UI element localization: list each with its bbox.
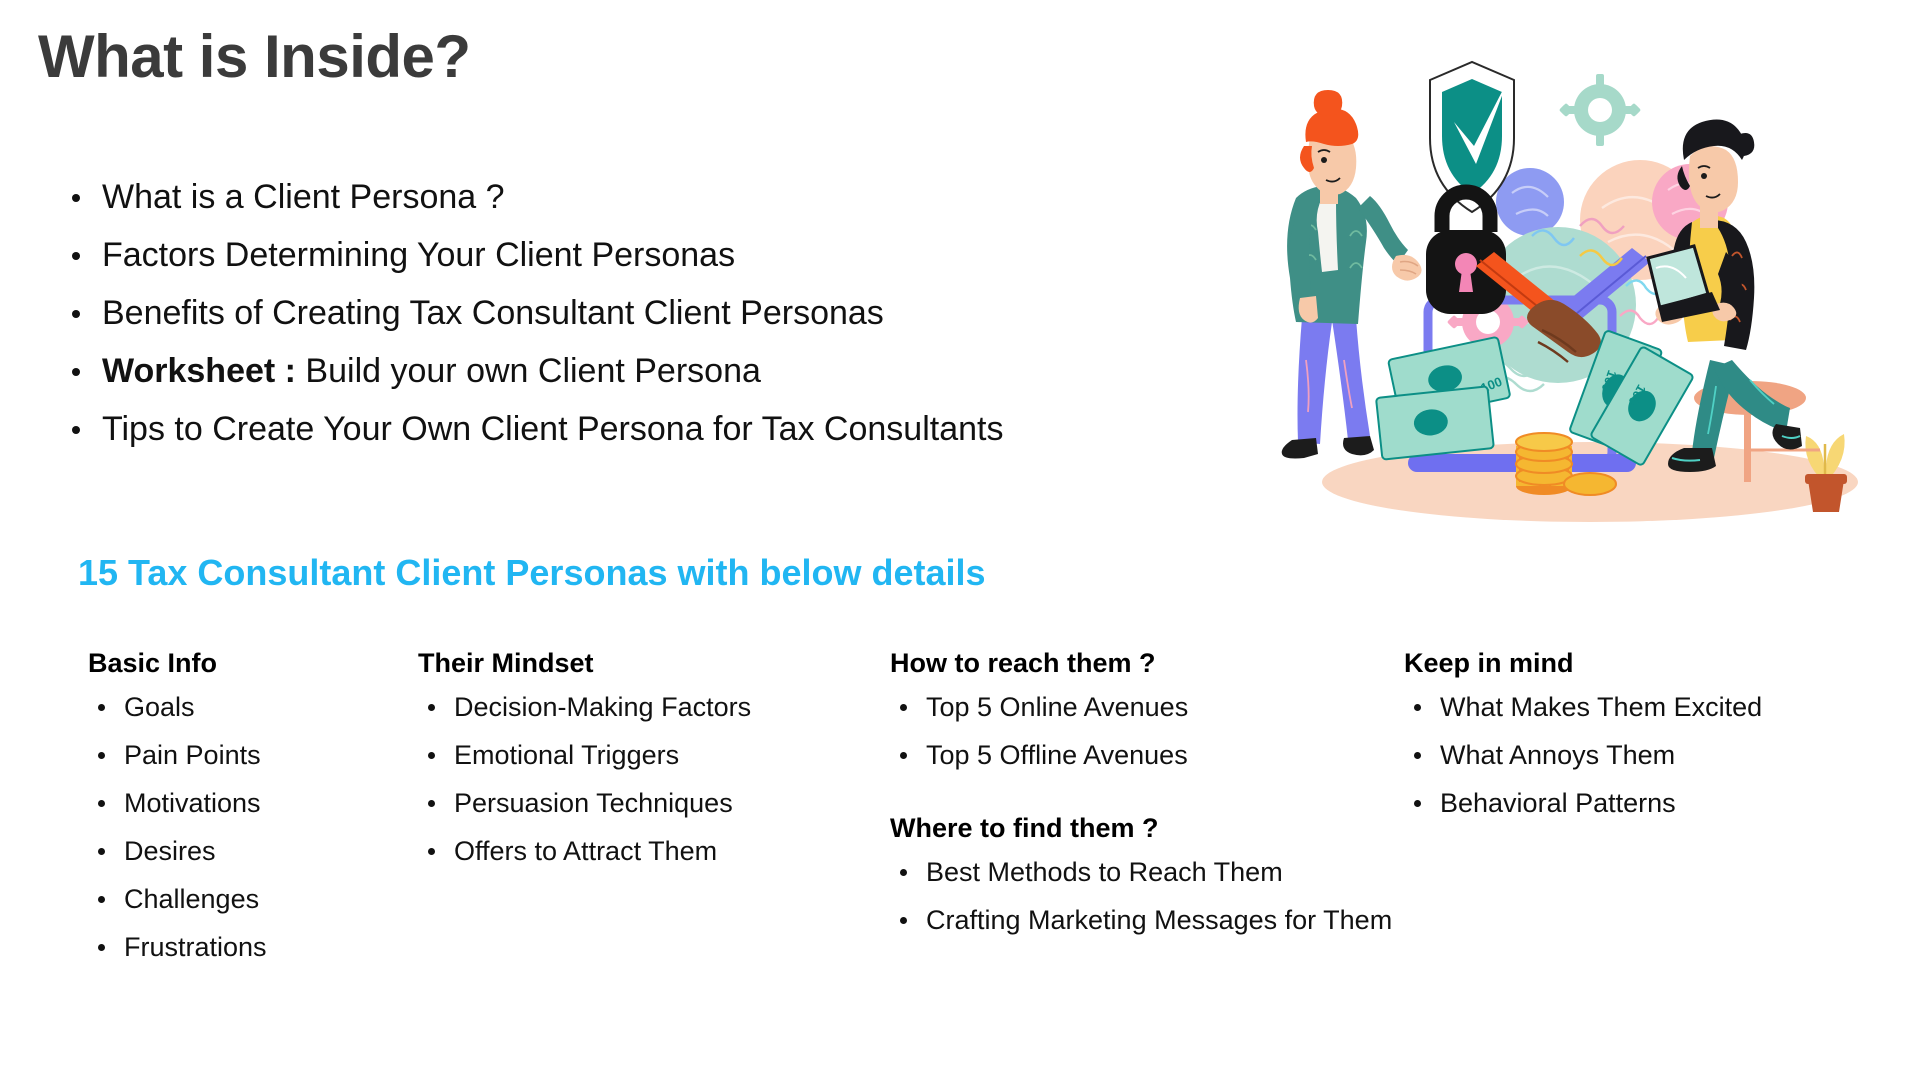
detail-columns: Basic Info Goals Pain Points Motivations…: [0, 648, 1920, 1048]
column-heading: Basic Info: [88, 648, 388, 679]
list-item: Offers to Attract Them: [418, 827, 798, 875]
main-list-text-2: Benefits of Creating Tax Consultant Clie…: [102, 294, 884, 332]
list-item-label: Best Methods to Reach Them: [926, 857, 1283, 887]
column-heading: Their Mindset: [418, 648, 798, 679]
section-heading-personas: 15 Tax Consultant Client Personas with b…: [78, 552, 986, 594]
column-sublist: Best Methods to Reach Them Crafting Mark…: [890, 848, 1530, 944]
list-item: What Makes Them Excited: [1404, 683, 1874, 731]
list-item-label: Emotional Triggers: [454, 740, 679, 770]
list-item-label: Pain Points: [124, 740, 261, 770]
list-item: What is a Client Persona ?: [58, 168, 1238, 226]
business-handshake-security-illustration: 100 100 100: [1280, 30, 1900, 530]
list-item-label: Top 5 Offline Avenues: [926, 740, 1188, 770]
list-item-label: Motivations: [124, 788, 261, 818]
list-item: Desires: [88, 827, 388, 875]
column-keep-in-mind: Keep in mind What Makes Them Excited Wha…: [1404, 648, 1874, 827]
page-title: What is Inside?: [38, 22, 471, 91]
column-basic-info: Basic Info Goals Pain Points Motivations…: [88, 648, 388, 971]
main-list-text-1: Factors Determining Your Client Personas: [102, 236, 735, 274]
list-item-label: Challenges: [124, 884, 259, 914]
list-item-label: Top 5 Online Avenues: [926, 692, 1188, 722]
main-bullet-list: What is a Client Persona ? Factors Deter…: [58, 168, 1238, 458]
list-item: Frustrations: [88, 923, 388, 971]
list-item: Factors Determining Your Client Personas: [58, 226, 1238, 284]
list-item: Persuasion Techniques: [418, 779, 798, 827]
list-item-label: Persuasion Techniques: [454, 788, 733, 818]
list-item: Pain Points: [88, 731, 388, 779]
column-their-mindset: Their Mindset Decision-Making Factors Em…: [418, 648, 798, 875]
list-item: Challenges: [88, 875, 388, 923]
list-item: Crafting Marketing Messages for Them: [890, 896, 1530, 944]
column-list: What Makes Them Excited What Annoys Them…: [1404, 683, 1874, 827]
list-item: Behavioral Patterns: [1404, 779, 1874, 827]
list-item-label: Decision-Making Factors: [454, 692, 751, 722]
slide-canvas: What is Inside? What is a Client Persona…: [0, 0, 1920, 1080]
list-item: Tips to Create Your Own Client Persona f…: [58, 400, 1238, 458]
list-item: Best Methods to Reach Them: [890, 848, 1530, 896]
main-list-bold-3: Worksheet :: [102, 352, 296, 390]
list-item-label: Frustrations: [124, 932, 267, 962]
column-list: Decision-Making Factors Emotional Trigge…: [418, 683, 798, 875]
list-item-label: What Annoys Them: [1440, 740, 1675, 770]
list-item: Benefits of Creating Tax Consultant Clie…: [58, 284, 1238, 342]
list-item: Decision-Making Factors: [418, 683, 798, 731]
list-item-label: What Makes Them Excited: [1440, 692, 1762, 722]
main-list-text-4: Tips to Create Your Own Client Persona f…: [102, 410, 1003, 448]
list-item: Emotional Triggers: [418, 731, 798, 779]
main-list-text-3: Build your own Client Persona: [296, 352, 761, 390]
gear-icon-teal: [1559, 74, 1641, 146]
main-list-text-0: What is a Client Persona ?: [102, 178, 505, 216]
list-item-label: Goals: [124, 692, 195, 722]
subsection-where-to-find: Where to find them ? Best Methods to Rea…: [890, 813, 1530, 944]
list-item-label: Desires: [124, 836, 216, 866]
column-heading: Keep in mind: [1404, 648, 1874, 679]
list-item: Goals: [88, 683, 388, 731]
list-item: Worksheet : Build your own Client Person…: [58, 342, 1238, 400]
list-item-label: Offers to Attract Them: [454, 836, 717, 866]
list-item-label: Behavioral Patterns: [1440, 788, 1676, 818]
list-item: What Annoys Them: [1404, 731, 1874, 779]
column-list: Goals Pain Points Motivations Desires Ch…: [88, 683, 388, 971]
list-item: Motivations: [88, 779, 388, 827]
decor-blob-purple: [1496, 168, 1564, 236]
list-item-label: Crafting Marketing Messages for Them: [926, 905, 1392, 935]
